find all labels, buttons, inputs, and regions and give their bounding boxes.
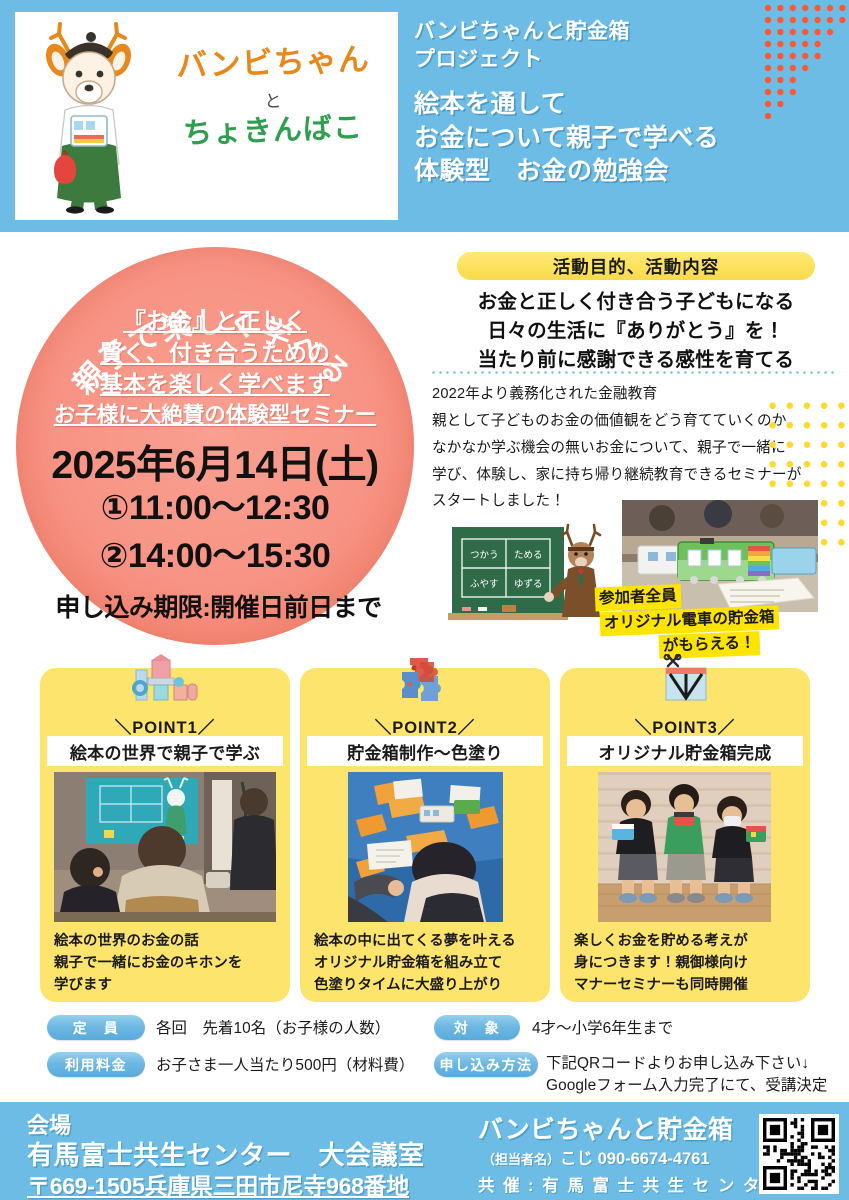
point-desc-line: オリジナル貯金箱を組み立て xyxy=(314,952,544,974)
deer-mascot-illustration xyxy=(29,18,149,214)
header-banner: バンビちゃん と ちょきんばこ バンビちゃんと貯金箱 プロジェクト 絵本を通して… xyxy=(0,0,849,232)
logo-wordmark: バンビちゃん と ちょきんばこ xyxy=(155,46,391,148)
board-cell-3: ふやす xyxy=(470,579,499,590)
project-subtitle: 絵本を通して お金について親子で学べる 体験型 お金の勉強会 xyxy=(414,88,719,189)
point-badge-2: ＼POINT2／ xyxy=(300,714,550,738)
purpose-line2: 日々の生活に『ありがとう』を！ xyxy=(430,317,842,346)
footer-bar: 会場 有馬富士共生センター 大会議室 〒669-1505兵庫県三田市尼寺968番… xyxy=(0,1102,849,1200)
point-card-2: ＼POINT2／ 貯金箱制作〜色塗り xyxy=(300,668,550,1002)
organizer-name: バンビちゃんと貯金箱 xyxy=(478,1110,733,1146)
point-title-2: 貯金箱制作〜色塗り xyxy=(307,736,543,766)
point-desc-line: 楽しくお金を貯める考えが xyxy=(574,930,804,952)
apply-value-line1: 下記QRコードよりお申し込み下さい↓ xyxy=(546,1053,846,1075)
contact-line: （担当者名）こじ 090-6674-4761 xyxy=(482,1145,710,1169)
event-times: ①11:00〜12:30 ②14:00〜15:30 xyxy=(16,484,414,581)
board-cell-1: つかう xyxy=(470,550,499,561)
board-cell-2: ためる xyxy=(514,550,543,561)
project-title-line1: バンビちゃんと貯金箱 xyxy=(414,18,630,46)
circle-line1: 『お金』と正しく xyxy=(16,306,414,338)
logo-card: バンビちゃん と ちょきんばこ xyxy=(15,12,398,220)
apply-value-line2: Googleフォーム入力完了にて、受講決定 xyxy=(546,1075,846,1097)
blackboard-illustration: つかう ためる ふやす ゆずる xyxy=(448,521,611,631)
subtitle-line1: 絵本を通して xyxy=(414,88,719,122)
craft-scissors-icon xyxy=(648,654,722,710)
subtitle-line2: お金について親子で学べる xyxy=(414,122,719,156)
capacity-value: 各回 先着10名（お子様の人数） xyxy=(156,1018,426,1040)
target-value: 4才〜小学6年生まで xyxy=(532,1018,832,1040)
point-title-3: オリジナル貯金箱完成 xyxy=(567,736,803,766)
point-card-1: ＼POINT1／ 絵本の世界で親子で学ぶ xyxy=(40,668,290,1002)
point-badge-1: ＼POINT1／ xyxy=(40,714,290,738)
logo-conjunction: と xyxy=(155,87,391,112)
board-cell-4: ゆずる xyxy=(514,579,543,590)
point-desc-line: 親子で一緒にお金のキホンを xyxy=(54,952,284,974)
subtitle-line3: 体験型 お金の勉強会 xyxy=(414,155,719,189)
gift-callout: 参加者全員 オリジナル電車の貯金箱 がもらえる！ xyxy=(595,579,830,663)
puzzle-pieces-icon xyxy=(388,654,462,710)
capacity-label-badge: 定 員 xyxy=(47,1015,145,1040)
point-desc-line: 色塗りタイムに大盛り上がり xyxy=(314,974,544,996)
building-blocks-icon xyxy=(128,654,202,710)
project-title-line2: プロジェクト xyxy=(414,46,630,74)
point-desc-line: 絵本の中に出てくる夢を叶える xyxy=(314,930,544,952)
contact-prefix: （担当者名） xyxy=(482,1152,560,1167)
venue-address: 〒669-1505兵庫県三田市尼寺968番地 xyxy=(27,1167,409,1200)
qr-code[interactable] xyxy=(759,1114,839,1194)
poster-root: バンビちゃん と ちょきんばこ バンビちゃんと貯金箱 プロジェクト 絵本を通して… xyxy=(0,0,849,1200)
point-desc-2: 絵本の中に出てくる夢を叶えるオリジナル貯金箱を組み立て色塗りタイムに大盛り上がり xyxy=(314,930,544,996)
circle-line2: 賢く、付き合うための xyxy=(16,338,414,370)
logo-line2: ちょきんばこ xyxy=(155,112,392,152)
event-time-slot-2: ②14:00〜15:30 xyxy=(16,532,414,580)
event-date: 2025年6月14日(土) xyxy=(16,434,414,490)
apply-label-badge: 申し込み方法 xyxy=(434,1052,538,1077)
kids-with-banks-photo xyxy=(598,772,771,922)
point-card-3: ＼POINT3／ オリジナル貯金箱完成 xyxy=(560,668,810,1002)
orange-dot-pattern-icon xyxy=(762,4,848,122)
target-label-badge: 対 象 xyxy=(434,1015,520,1040)
event-time-slot-1: ①11:00〜12:30 xyxy=(16,484,414,532)
dotted-divider xyxy=(430,371,834,374)
point-title-1: 絵本の世界で親子で学ぶ xyxy=(47,736,283,766)
purpose-line1: お金と正しく付き合う子どもになる xyxy=(430,288,842,317)
point-desc-1: 絵本の世界のお金の話親子で一緒にお金のキホンを学びます xyxy=(54,930,284,996)
circle-tagline: 『お金』と正しく 賢く、付き合うための 基本を楽しく学べます お子様に大絶賛の体… xyxy=(16,306,414,431)
project-title: バンビちゃんと貯金箱 プロジェクト xyxy=(414,18,630,73)
circle-line4: お子様に大絶賛の体験型セミナー xyxy=(16,401,414,431)
contact-phone[interactable]: 090-6674-4761 xyxy=(598,1150,710,1168)
gift-line1: 参加者全員 xyxy=(595,584,681,611)
application-deadline: 申し込み期限:開催日前日まで xyxy=(16,588,421,624)
point-desc-line: 身につきます！親御様向け xyxy=(574,952,804,974)
seminar-projector-photo xyxy=(54,772,276,922)
apply-value: 下記QRコードよりお申し込み下さい↓ Googleフォーム入力完了にて、受講決定 xyxy=(546,1053,846,1097)
craft-workshop-photo xyxy=(348,772,503,922)
point-desc-line: 学びます xyxy=(54,974,284,996)
point-desc-line: 絵本の世界のお金の話 xyxy=(54,930,284,952)
fee-label-badge: 利用料金 xyxy=(47,1052,145,1077)
point-desc-line: マナーセミナーも同時開催 xyxy=(574,974,804,996)
point-badge-3: ＼POINT3／ xyxy=(560,714,810,738)
circle-line3: 基本を楽しく学べます xyxy=(16,369,414,401)
purpose-banner: 活動目的、活動内容 xyxy=(457,252,815,280)
contact-person: こじ xyxy=(560,1150,593,1168)
cohost-line: 共 催 : 有 馬 富 士 共 生 セ ン タ ー xyxy=(478,1172,787,1196)
purpose-statement: お金と正しく付き合う子どもになる 日々の生活に『ありがとう』を！ 当たり前に感謝… xyxy=(430,288,842,375)
logo-line1: バンビちゃん xyxy=(154,42,391,84)
fee-value: お子さま一人当たり500円（材料費） xyxy=(156,1055,428,1077)
point-desc-3: 楽しくお金を貯める考えが身につきます！親御様向けマナーセミナーも同時開催 xyxy=(574,930,804,996)
